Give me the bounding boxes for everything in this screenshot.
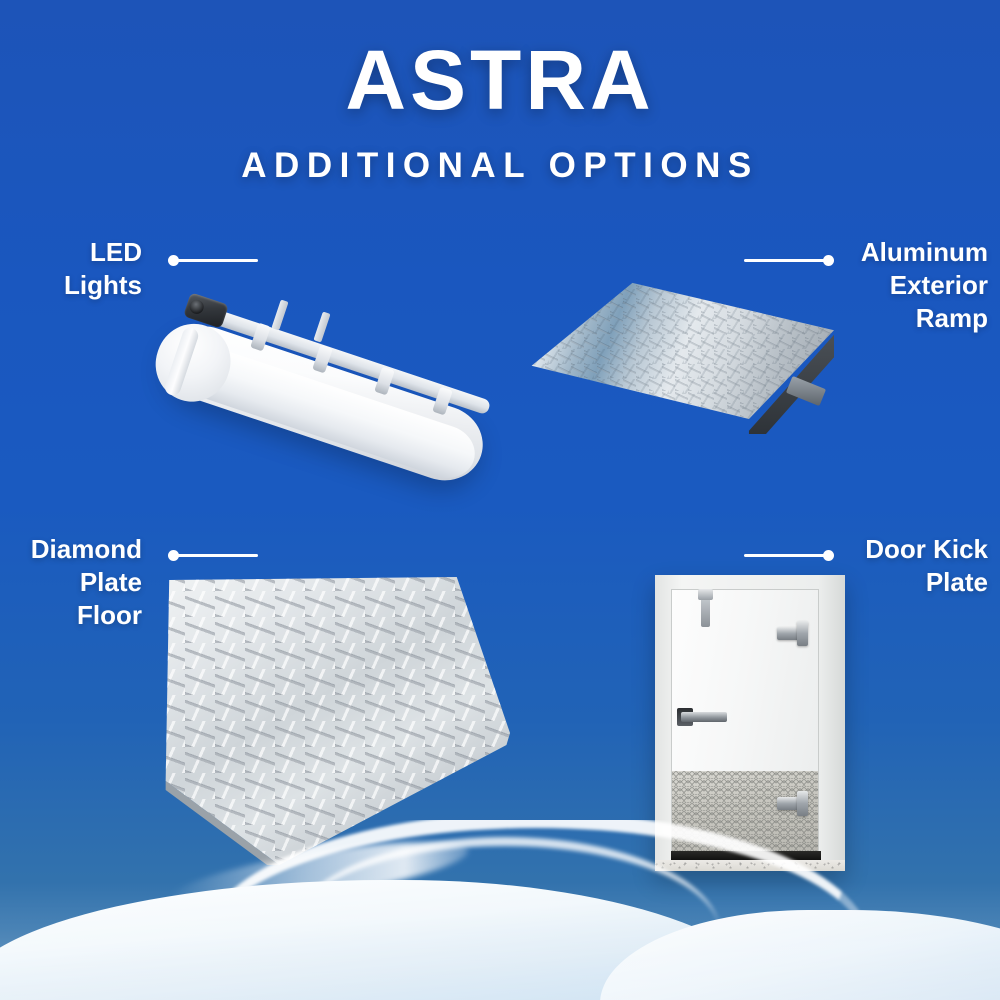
poster-canvas: ASTRA ADDITIONAL OPTIONS LED Lights Alum… — [0, 0, 1000, 1000]
product-image-led-lights — [150, 268, 530, 448]
led-mount-bracket — [313, 312, 330, 343]
callout-label-door-kick-plate: Door Kick Plate — [832, 533, 988, 599]
leader-bar — [744, 554, 826, 557]
door-handle-icon — [681, 712, 727, 722]
door-safety-release-head — [698, 589, 713, 600]
callout-label-aluminum-exterior-ramp: Aluminum Exterior Ramp — [848, 236, 988, 335]
leader-bar — [176, 259, 258, 262]
door-hinge-plate-icon — [797, 621, 808, 646]
leader-bar — [176, 554, 258, 557]
page-title: ASTRA — [0, 38, 1000, 122]
leader-line-diamond-plate-floor — [168, 549, 258, 561]
callout-label-led-lights: LED Lights — [12, 236, 142, 302]
product-image-aluminum-exterior-ramp — [505, 262, 850, 432]
ice-veil-overlay — [0, 882, 1000, 1000]
leader-line-door-kick-plate — [744, 549, 834, 561]
callout-label-diamond-plate-floor: Diamond Plate Floor — [0, 533, 142, 632]
leader-line-led-lights — [168, 254, 258, 266]
footer-ice-graphic — [0, 820, 1000, 1000]
led-mount-bracket — [271, 300, 288, 331]
door-hinge-plate-icon — [797, 791, 808, 816]
page-subtitle: ADDITIONAL OPTIONS — [0, 148, 1000, 183]
